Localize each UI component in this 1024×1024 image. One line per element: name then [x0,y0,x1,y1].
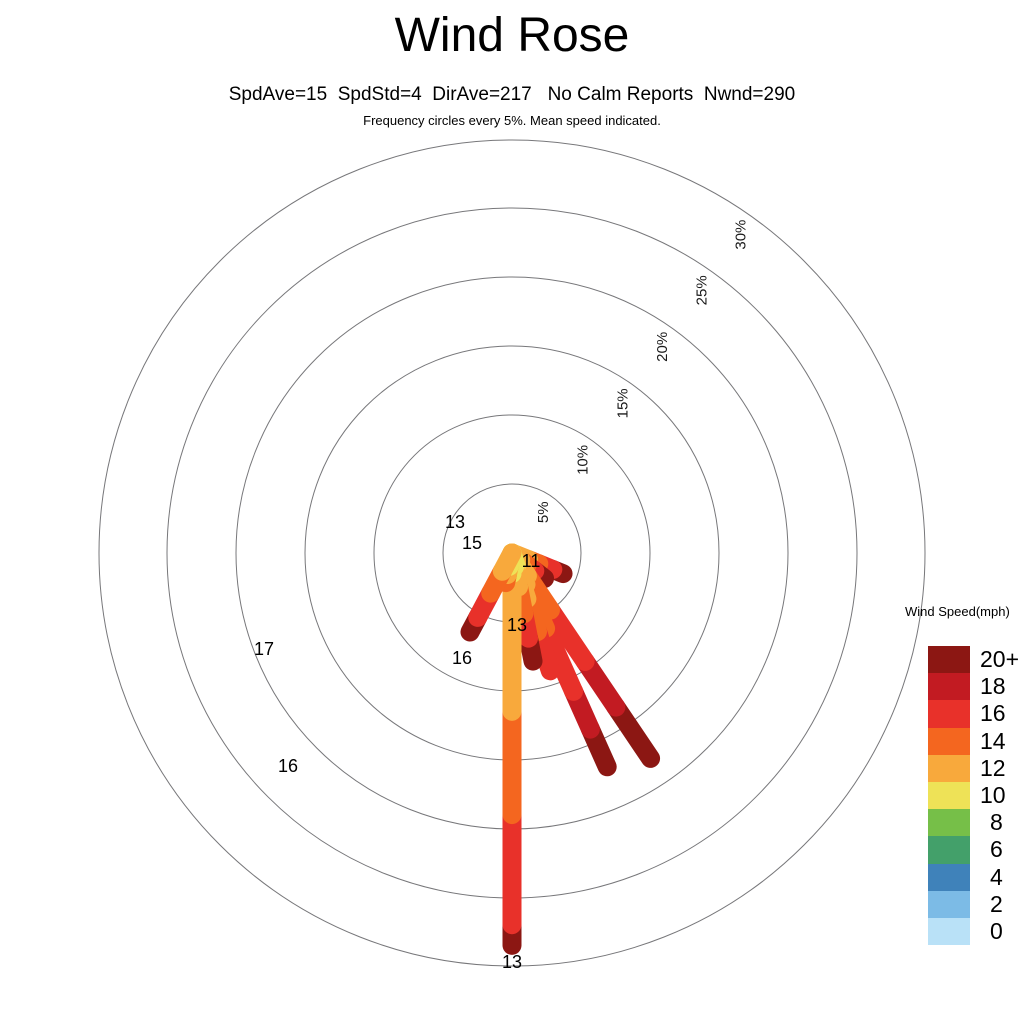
ring-percent-label: 20% [654,332,671,362]
legend-label: 8 [970,809,1024,836]
legend-label: 16 [970,700,1024,727]
legend-row: 2 [928,891,1024,918]
petal-mean-speed-label: 16 [278,756,298,776]
ring-percent-label: 15% [614,388,631,418]
legend-row: 14 [928,728,1024,755]
legend-label: 6 [970,836,1024,863]
legend-row: 4 [928,864,1024,891]
legend-row: 0 [928,918,1024,945]
legend-row: 8 [928,809,1024,836]
legend-color-swatch [928,809,970,836]
petal-mean-speed-label: 13 [445,512,465,532]
ring-percent-label: 25% [693,275,710,305]
legend-color-swatch [928,918,970,945]
legend-color-swatch [928,700,970,727]
legend-color-swatch [928,728,970,755]
wind-petals [470,553,651,945]
ring-percent-label: 10% [575,445,592,475]
legend-color-swatch [928,673,970,700]
legend-label: 14 [970,728,1024,755]
petal-mean-speed-label: 15 [462,533,482,553]
ring-percent-label: 5% [535,501,552,523]
legend-row: 18 [928,673,1024,700]
legend-color-swatch [928,755,970,782]
legend-title: Wind Speed(mph) [905,604,1010,619]
legend-row: 12 [928,755,1024,782]
legend-row: 16 [928,700,1024,727]
legend-label: 4 [970,864,1024,891]
legend-color-swatch [928,864,970,891]
legend-row: 10 [928,782,1024,809]
legend-label: 12 [970,755,1024,782]
legend-color-swatch [928,646,970,673]
legend-color-swatch [928,891,970,918]
legend-label: 18 [970,673,1024,700]
wind-rose-plot: 5%10%15%20%25%30% 1315171616131113 [0,0,1024,1024]
legend: 20+181614121086420 [928,646,1024,945]
petal-mean-speed-label: 16 [452,648,472,668]
legend-label: 20+ [970,646,1024,673]
ring-percent-labels: 5%10%15%20%25%30% [535,220,749,523]
petal-segment [502,553,512,571]
petal-mean-speed-label: 11 [522,551,541,571]
petal-mean-speed-label: 13 [502,952,522,972]
legend-row: 6 [928,836,1024,863]
legend-label: 10 [970,782,1024,809]
ring-percent-label: 30% [732,220,749,250]
legend-label: 2 [970,891,1024,918]
legend-label: 0 [970,918,1024,945]
legend-row: 20+ [928,646,1024,673]
petal-mean-speed-label: 17 [254,639,274,659]
legend-color-swatch [928,836,970,863]
petal-mean-speed-label: 13 [507,615,527,635]
legend-color-swatch [928,782,970,809]
